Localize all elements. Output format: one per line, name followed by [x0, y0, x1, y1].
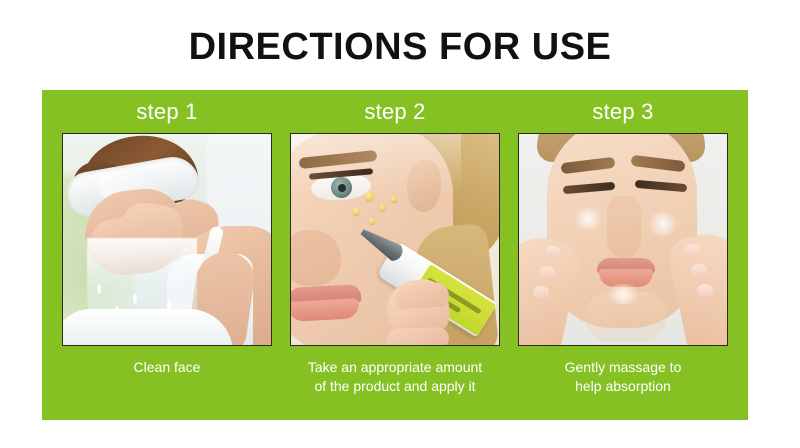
caption-line: Gently massage to	[565, 358, 682, 377]
step-card-2: step 2	[284, 90, 506, 420]
caption-line: of the product and apply it	[308, 377, 482, 396]
water-drop	[133, 294, 137, 304]
serum-droplet	[369, 218, 375, 224]
apply-serum-illustration	[291, 134, 499, 345]
step-3-heading: step 3	[592, 98, 653, 126]
fingernail-shape	[545, 246, 561, 259]
ear-shape	[407, 160, 441, 212]
fingernail-shape	[697, 284, 713, 297]
step-1-photo	[62, 133, 272, 346]
caption-line: Take an appropriate amount	[308, 358, 482, 377]
pupil-shape	[338, 184, 346, 192]
finger-shape	[387, 327, 450, 346]
basin-shape	[62, 309, 233, 346]
water-drop	[97, 284, 101, 294]
step-2-caption: Take an appropriate amount of the produc…	[308, 358, 482, 396]
caption-line: Clean face	[134, 358, 201, 377]
serum-droplet	[365, 192, 374, 201]
skin-glow	[645, 212, 681, 236]
fingernail-shape	[691, 264, 707, 277]
directions-panel: step 1	[42, 90, 748, 420]
nose-shape	[607, 196, 641, 258]
step-3-caption: Gently massage to help absorption	[565, 358, 682, 396]
fingernail-shape	[533, 286, 549, 299]
fingernail-shape	[685, 244, 701, 257]
step-card-1: step 1	[56, 90, 278, 420]
nose-shape	[290, 230, 341, 286]
step-3-photo	[518, 133, 728, 346]
serum-droplet	[353, 208, 360, 215]
serum-droplet	[379, 204, 386, 211]
fingernail-shape	[539, 266, 555, 279]
massage-face-illustration	[519, 134, 727, 345]
washing-face-illustration	[63, 134, 271, 345]
step-1-caption: Clean face	[134, 358, 201, 377]
skin-glow	[571, 208, 605, 230]
caption-line: help absorption	[565, 377, 682, 396]
skin-glow	[603, 284, 643, 304]
step-card-3: step 3	[512, 90, 734, 420]
step-1-heading: step 1	[136, 98, 197, 126]
steps-row: step 1	[42, 90, 748, 420]
serum-droplet	[391, 196, 397, 202]
step-2-photo	[290, 133, 500, 346]
page-title: DIRECTIONS FOR USE	[0, 24, 800, 70]
step-2-heading: step 2	[364, 98, 425, 126]
